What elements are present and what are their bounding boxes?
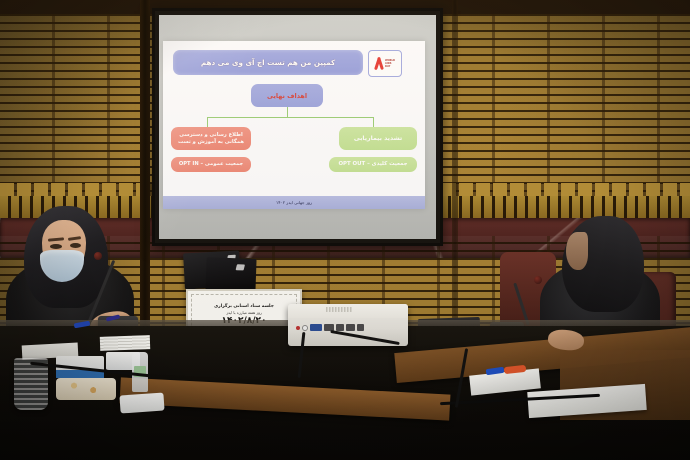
projector-vent (326, 307, 352, 312)
projector-port-vga (310, 324, 322, 331)
projector-port-audio (357, 324, 364, 331)
connector-bar (207, 117, 373, 118)
attendee-left-eye (50, 244, 62, 249)
slide-title: کمپین من هم تست اچ آی وی می دهم (173, 50, 363, 75)
logo-text: WORLD AIDS DAY (385, 59, 395, 68)
projector-port-rca-white (302, 325, 308, 331)
projection-screen: کمپین من هم تست اچ آی وی می دهم WORLD AI… (152, 8, 443, 246)
connector-stem (287, 107, 288, 117)
monitor-front (205, 257, 256, 293)
tissue-box (119, 392, 164, 413)
microphone-right-head (534, 276, 542, 284)
microphone-left-head (94, 252, 102, 260)
connector-right-drop (373, 117, 374, 127)
connector-left-drop (207, 117, 208, 127)
monitor-front-glare (236, 264, 245, 270)
world-aids-day-ribbon-logo: WORLD AIDS DAY (368, 50, 402, 77)
projector-port-lan (346, 324, 355, 331)
aids-ribbon-icon (375, 57, 383, 70)
candy-tray (56, 378, 116, 400)
presentation-slide: کمپین من هم تست اچ آی وی می دهم WORLD AI… (163, 41, 425, 209)
projector-port-usb (336, 324, 344, 331)
conference-room-photo: کمپین من هم تست اچ آی وی می دهم WORLD AI… (0, 0, 690, 460)
slide-goal-box: اهداف نهایی (251, 84, 323, 107)
slide-branch-1-heading: اطلاع رسانی و دسترسی همگانی به آموزش و ت… (171, 127, 251, 150)
sign-line-2: روز هفته مبارزه با ایدز (226, 310, 262, 315)
slide-footer-text: روز جهانی ایدز ۱۴۰۲ (276, 200, 312, 205)
slide-branch-2-subtitle: جمعیت کلیدی – OPT OUT (329, 157, 417, 172)
attendee-right-face (566, 232, 588, 270)
document-stack (100, 335, 150, 351)
sign-line-1: جلسه ستاد استانی برگزاری (214, 304, 274, 309)
slide-branch-1-subtitle: جمعیت عمومی – OPT IN (171, 157, 251, 172)
projector-top (288, 304, 408, 318)
slide-footer: روز جهانی ایدز ۱۴۰۲ (163, 196, 425, 209)
projector-ports (296, 322, 400, 333)
slide-branch-2-heading: تشدید بیماریابی (339, 127, 417, 150)
projector-port-rca-red (296, 326, 300, 330)
attendee-left-eye-2 (70, 243, 81, 248)
